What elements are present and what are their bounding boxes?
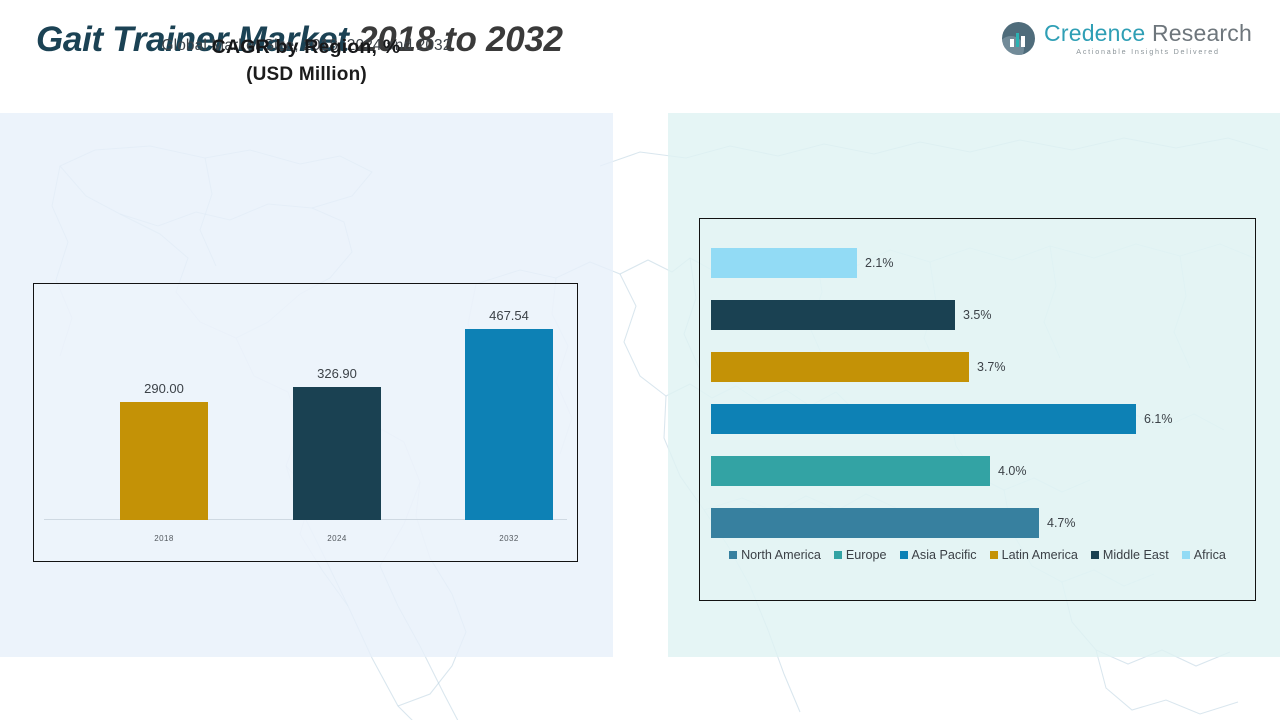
legend-item[interactable]: Europe: [834, 548, 887, 562]
vertical-bars-area: 290.002018326.902024467.542032: [34, 284, 577, 561]
bar-column: 290.00: [120, 402, 208, 520]
bar-value-label: 4.0%: [998, 464, 1027, 478]
bar-value-label: 6.1%: [1144, 412, 1173, 426]
legend-swatch-icon: [1182, 551, 1190, 559]
bar-column: 326.90: [293, 387, 381, 520]
cagr-by-region-bar-chart: 2.1%3.5%3.7%6.1%4.0%4.7% North AmericaEu…: [699, 218, 1256, 601]
legend-swatch-icon: [729, 551, 737, 559]
bar-row: 4.0%: [711, 456, 1027, 486]
legend-label: Asia Pacific: [912, 548, 977, 562]
legend-item[interactable]: North America: [729, 548, 821, 562]
logo-tagline: Actionable Insights Delivered: [1044, 48, 1252, 55]
legend-item[interactable]: Middle East: [1091, 548, 1169, 562]
brand-logo[interactable]: Credence Research Actionable Insights De…: [1002, 22, 1252, 55]
right-panel-heading: CAGR by Region, %: [0, 36, 612, 59]
horizontal-bar: [711, 300, 955, 330]
bar-row: 2.1%: [711, 248, 894, 278]
left-heading-line2: (USD Million): [0, 64, 613, 86]
bar-category-label: 2032: [429, 534, 589, 543]
horizontal-bar: [711, 456, 990, 486]
vertical-bar: [120, 402, 208, 520]
legend-swatch-icon: [990, 551, 998, 559]
logo-name: Credence Research: [1044, 22, 1252, 45]
logo-name-secondary: Research: [1152, 20, 1252, 46]
horizontal-bar: [711, 352, 969, 382]
bar-category-label: 2018: [84, 534, 244, 543]
legend-label: North America: [741, 548, 821, 562]
legend-swatch-icon: [834, 551, 842, 559]
bar-chart-circle-icon: [1002, 22, 1035, 55]
horizontal-bar: [711, 248, 857, 278]
horizontal-bar: [711, 508, 1039, 538]
legend-swatch-icon: [1091, 551, 1099, 559]
infographic-canvas: Gait Trainer Market 2018 to 2032 Credenc…: [0, 0, 1280, 720]
logo-text: Credence Research Actionable Insights De…: [1044, 22, 1252, 55]
bar-row: 3.5%: [711, 300, 992, 330]
logo-name-primary: Credence: [1044, 20, 1145, 46]
bar-value-label: 3.5%: [963, 308, 992, 322]
market-size-bar-chart: 290.002018326.902024467.542032: [33, 283, 578, 562]
horizontal-bar: [711, 404, 1136, 434]
legend-label: Africa: [1194, 548, 1226, 562]
chart-legend: North AmericaEuropeAsia PacificLatin Ame…: [700, 548, 1255, 562]
legend-label: Latin America: [1002, 548, 1078, 562]
legend-swatch-icon: [900, 551, 908, 559]
legend-item[interactable]: Africa: [1182, 548, 1226, 562]
legend-label: Middle East: [1103, 548, 1169, 562]
bar-value-label: 290.00: [84, 381, 244, 396]
bar-row: 4.7%: [711, 508, 1076, 538]
bar-value-label: 2.1%: [865, 256, 894, 270]
legend-item[interactable]: Asia Pacific: [900, 548, 977, 562]
legend-label: Europe: [846, 548, 887, 562]
bar-value-label: 3.7%: [977, 360, 1006, 374]
bar-row: 6.1%: [711, 404, 1173, 434]
logo-bars-icon: [1010, 33, 1025, 47]
bar-value-label: 326.90: [257, 366, 417, 381]
bar-value-label: 467.54: [429, 308, 589, 323]
bar-value-label: 4.7%: [1047, 516, 1076, 530]
vertical-bar: [293, 387, 381, 520]
bar-row: 3.7%: [711, 352, 1006, 382]
bar-column: 467.54: [465, 329, 553, 520]
legend-item[interactable]: Latin America: [990, 548, 1078, 562]
bar-category-label: 2024: [257, 534, 417, 543]
vertical-bar: [465, 329, 553, 520]
